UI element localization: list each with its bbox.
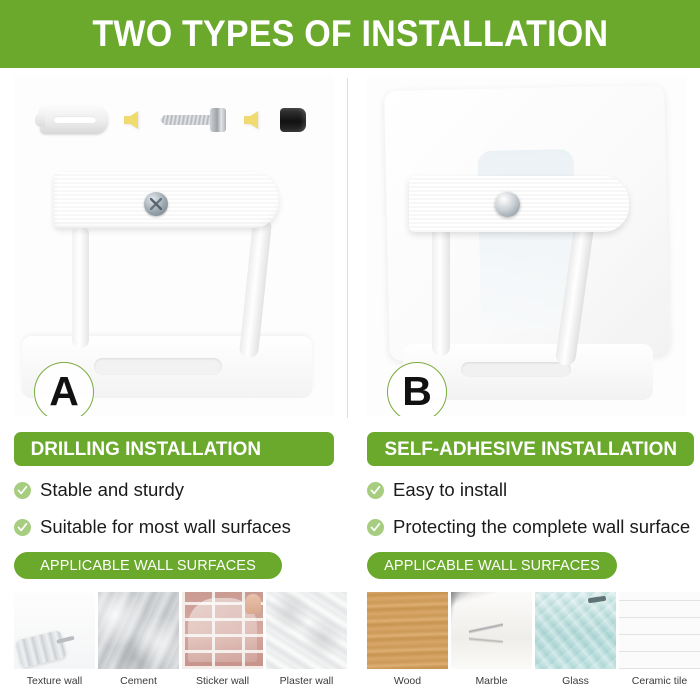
glass-swatch-image xyxy=(535,592,616,669)
list-item: Easy to install xyxy=(367,474,697,506)
arrow-left-icon xyxy=(124,111,138,129)
bracket-photo-a xyxy=(36,168,314,398)
mounted-screw-icon xyxy=(144,192,168,216)
swatch-caption: Cement xyxy=(98,675,179,687)
panel-b-title: SELF-ADHESIVE INSTALLATION xyxy=(385,438,677,461)
swatch-item: Cement xyxy=(98,592,179,687)
list-item: Stable and sturdy xyxy=(14,474,344,506)
panel-b-photo: B xyxy=(367,76,687,416)
marble-swatch-image xyxy=(451,592,532,669)
swatch-caption: Wood xyxy=(367,675,448,687)
swatch-caption: Sticker wall xyxy=(182,675,263,687)
feature-label: Suitable for most wall surfaces xyxy=(40,516,291,538)
swatch-caption: Ceramic tile xyxy=(619,675,700,687)
swatch-caption: Marble xyxy=(451,675,532,687)
ceramic-tile-swatch-image xyxy=(619,592,700,669)
wall-anchor-icon xyxy=(40,106,108,134)
panel-self-adhesive-installation: B SELF-ADHESIVE INSTALLATION Easy to ins… xyxy=(359,68,694,700)
panel-b-swatch-strip: Wood Marble Glass Ceramic tile xyxy=(367,592,697,687)
wood-swatch-image xyxy=(367,592,448,669)
panel-a-surfaces-badge: APPLICABLE WALL SURFACES xyxy=(14,552,282,579)
feature-label: Stable and sturdy xyxy=(40,479,184,501)
swatch-item: Wood xyxy=(367,592,448,687)
hardware-parts-row xyxy=(32,98,322,146)
panel-a-letter-badge: A xyxy=(34,362,94,416)
swatch-item: Plaster wall xyxy=(266,592,347,687)
arrow-left-icon-2 xyxy=(244,111,258,129)
panel-b-letter-badge: B xyxy=(387,362,447,416)
header-banner: TWO TYPES OF INSTALLATION xyxy=(0,0,700,68)
panel-b-surfaces-badge: APPLICABLE WALL SURFACES xyxy=(367,552,617,579)
panel-a-swatch-strip: Texture wall Cement Sticker wall Plaster… xyxy=(14,592,344,687)
black-cap-icon xyxy=(280,108,306,132)
surfaces-label: APPLICABLE WALL SURFACES xyxy=(40,558,256,574)
swatch-item: Marble xyxy=(451,592,532,687)
check-icon xyxy=(14,482,31,499)
swatch-item: Texture wall xyxy=(14,592,95,687)
screw-icon xyxy=(160,110,228,130)
swatch-item: Ceramic tile xyxy=(619,592,700,687)
panel-a-photo: A xyxy=(14,76,334,416)
panel-b-title-bar: SELF-ADHESIVE INSTALLATION xyxy=(367,432,694,466)
panel-a-title-bar: DRILLING INSTALLATION xyxy=(14,432,334,466)
panel-a-title: DRILLING INSTALLATION xyxy=(31,438,261,461)
feature-label: Protecting the complete wall surface xyxy=(393,516,690,538)
feature-label: Easy to install xyxy=(393,479,507,501)
chrome-screw-icon xyxy=(495,192,520,217)
check-icon xyxy=(367,519,384,536)
column-divider xyxy=(347,78,348,418)
texture-wall-swatch-image xyxy=(14,592,95,669)
page-title: TWO TYPES OF INSTALLATION xyxy=(92,13,608,55)
panel-b-feature-list: Easy to install Protecting the complete … xyxy=(367,474,697,548)
list-item: Suitable for most wall surfaces xyxy=(14,511,344,543)
swatch-item: Sticker wall xyxy=(182,592,263,687)
content-area: A DRILLING INSTALLATION Stable and sturd… xyxy=(0,68,700,700)
check-icon xyxy=(367,482,384,499)
panel-a-feature-list: Stable and sturdy Suitable for most wall… xyxy=(14,474,344,548)
sticker-wall-swatch-image xyxy=(182,592,263,669)
bracket-bar-b xyxy=(409,176,629,232)
cement-swatch-image xyxy=(98,592,179,669)
list-item: Protecting the complete wall surface xyxy=(367,511,697,543)
swatch-caption: Glass xyxy=(535,675,616,687)
swatch-item: Glass xyxy=(535,592,616,687)
swatch-caption: Texture wall xyxy=(14,675,95,687)
surfaces-label: APPLICABLE WALL SURFACES xyxy=(384,558,600,574)
swatch-caption: Plaster wall xyxy=(266,675,347,687)
plaster-wall-swatch-image xyxy=(266,592,347,669)
check-icon xyxy=(14,519,31,536)
bracket-leg-left-b xyxy=(432,226,450,356)
panel-drilling-installation: A DRILLING INSTALLATION Stable and sturd… xyxy=(6,68,341,700)
